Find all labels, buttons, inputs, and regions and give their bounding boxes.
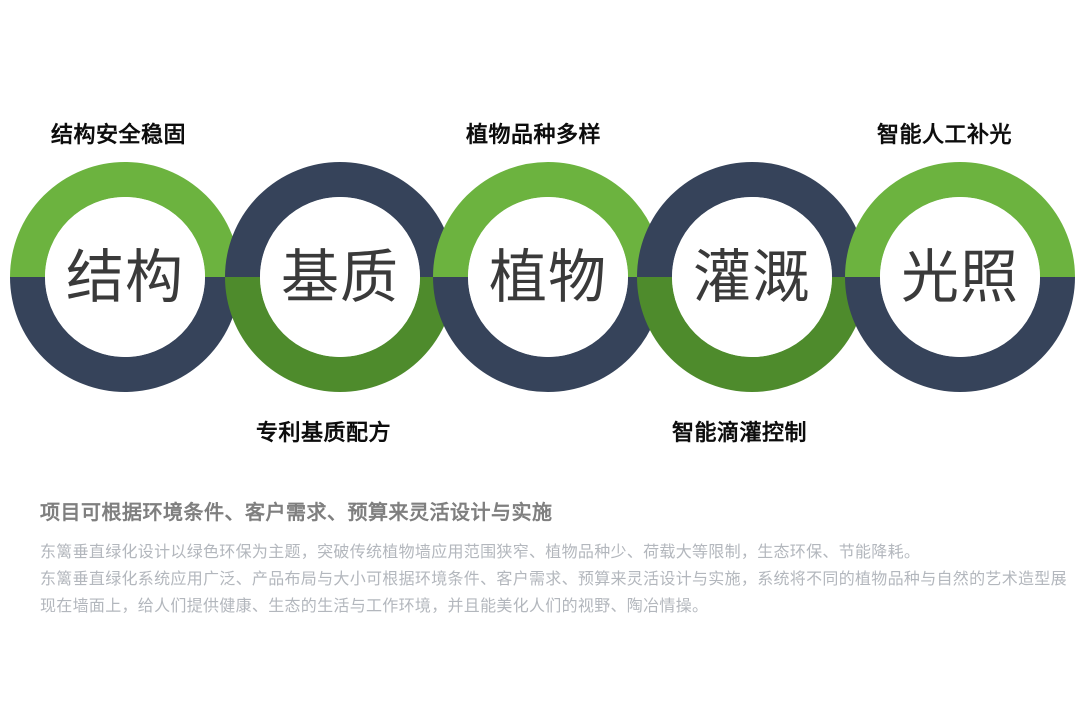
description-line-3: 现在墙面上，给人们提供健康、生态的生活与工作环境，并且能美化人们的视野、陶冶情操… [40,592,1050,619]
callout-structure: 结构安全稳固 [51,123,186,149]
callout-substrate: 专利基质配方 [256,421,391,447]
callout-light: 智能人工补光 [877,123,1012,149]
description-line-2: 东篱垂直绿化系统应用广泛、产品布局与大小可根据环境条件、客户需求、预算来灵活设计… [40,565,1050,592]
rings-graphic [0,0,1080,470]
callout-plants: 植物品种多样 [466,123,601,149]
description-heading: 项目可根据环境条件、客户需求、预算来灵活设计与实施 [40,498,1050,526]
ring-plants-label: 植物 [443,248,653,306]
description-line-1: 东篱垂直绿化设计以绿色环保为主题，突破传统植物墙应用范围狭窄、植物品种少、荷载大… [40,538,1050,565]
ring-substrate-label: 基质 [235,248,445,306]
ring-diagram: 结构 基质 植物 灌溉 光照 结构安全稳固 植物品种多样 智能人工补光 专利基质… [0,0,1080,470]
page-root: 结构 基质 植物 灌溉 光照 结构安全稳固 植物品种多样 智能人工补光 专利基质… [0,0,1080,720]
callout-irrigation: 智能滴灌控制 [672,421,807,447]
ring-irrigation-label: 灌溉 [647,248,857,306]
ring-structure-label: 结构 [20,248,230,306]
ring-light-label: 光照 [855,248,1065,306]
description-block: 项目可根据环境条件、客户需求、预算来灵活设计与实施 东篱垂直绿化设计以绿色环保为… [40,498,1050,619]
